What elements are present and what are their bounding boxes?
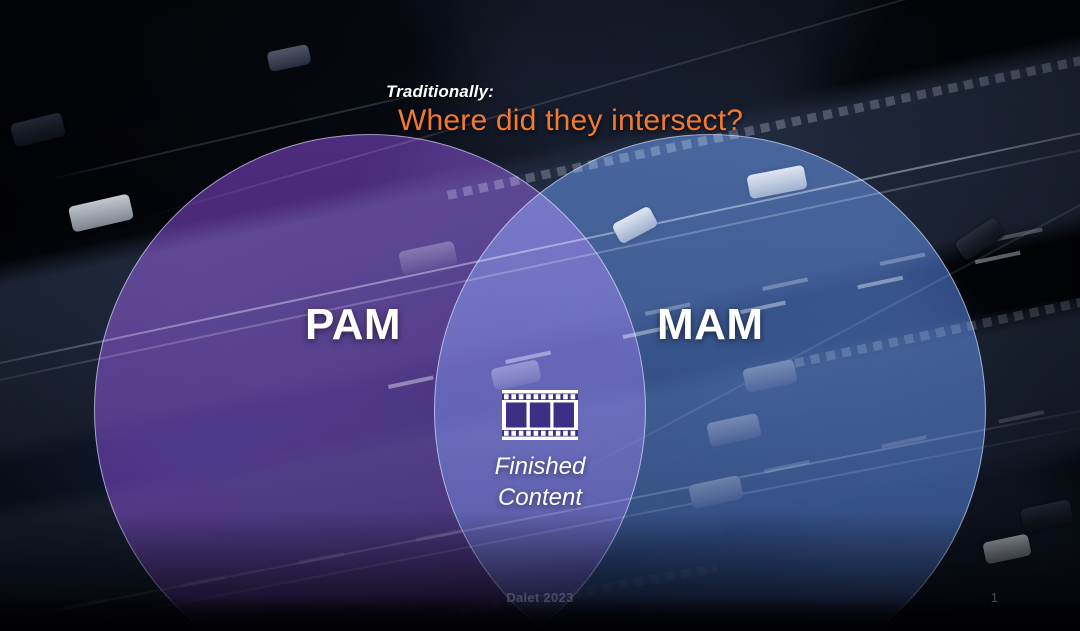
venn-diagram [0, 0, 1080, 631]
venn-label-pam: PAM [305, 300, 401, 350]
footer-brand-text: Dalet 2023 [0, 590, 1080, 605]
presentation-slide: PAM MAM [0, 0, 1080, 631]
venn-label-mam: MAM [657, 300, 764, 350]
caption-line-1: Finished [437, 452, 643, 483]
film-strip-icon [502, 390, 578, 440]
venn-intersection-caption: Finished Content [437, 452, 643, 513]
venn-intersection-group: Finished Content [437, 390, 643, 513]
caption-line-2: Content [437, 483, 643, 514]
slide-eyebrow-text: Traditionally: [386, 82, 494, 102]
slide-headline: Where did they intersect? [398, 104, 743, 138]
slide-page-number: 1 [991, 590, 998, 605]
